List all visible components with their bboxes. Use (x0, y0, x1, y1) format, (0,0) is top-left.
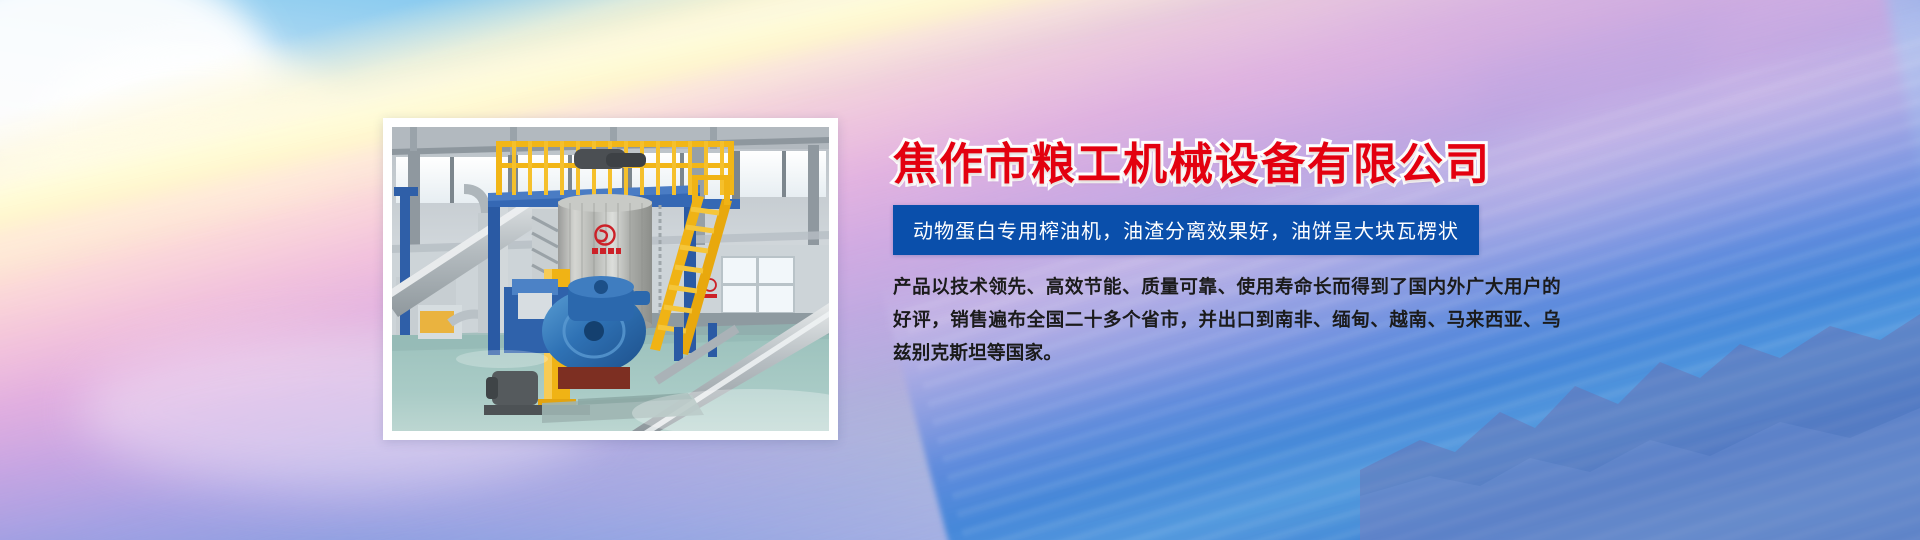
company-title: 焦作市粮工机械设备有限公司 (893, 140, 1593, 189)
banner-text-column: 焦作市粮工机械设备有限公司 动物蛋白专用榨油机，油渣分离效果好，油饼呈大块瓦楞状… (893, 140, 1593, 370)
tagline-bar: 动物蛋白专用榨油机，油渣分离效果好，油饼呈大块瓦楞状 (893, 205, 1479, 255)
product-photo (392, 127, 829, 431)
product-photo-frame (383, 118, 838, 440)
promo-banner: 焦作市粮工机械设备有限公司 动物蛋白专用榨油机，油渣分离效果好，油饼呈大块瓦楞状… (0, 0, 1920, 540)
company-description: 产品以技术领先、高效节能、质量可靠、使用寿命长而得到了国内外广大用户的好评，销售… (893, 271, 1561, 370)
